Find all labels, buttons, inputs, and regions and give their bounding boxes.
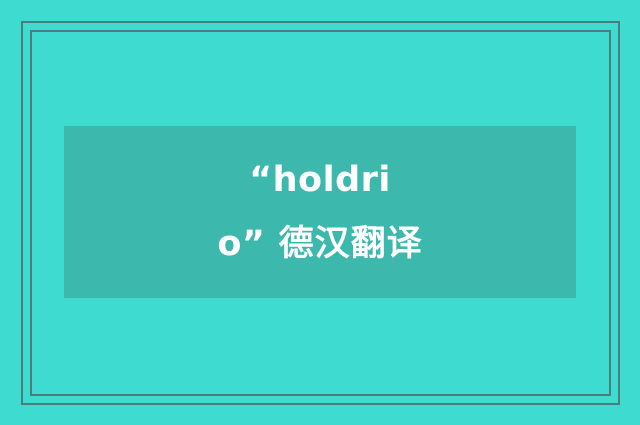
title-card-canvas: “holdri o” 德汉翻译: [0, 0, 640, 425]
page-title-line-2-latin: o”: [217, 224, 265, 264]
page-title-line-2: o” 德汉翻译: [217, 212, 422, 276]
title-card-panel: “holdri o” 德汉翻译: [64, 126, 576, 298]
page-title-line-1: “holdri: [217, 148, 422, 212]
page-title-line-2-cjk: 德汉翻译: [265, 224, 422, 264]
page-title: “holdri o” 德汉翻译: [217, 148, 422, 276]
